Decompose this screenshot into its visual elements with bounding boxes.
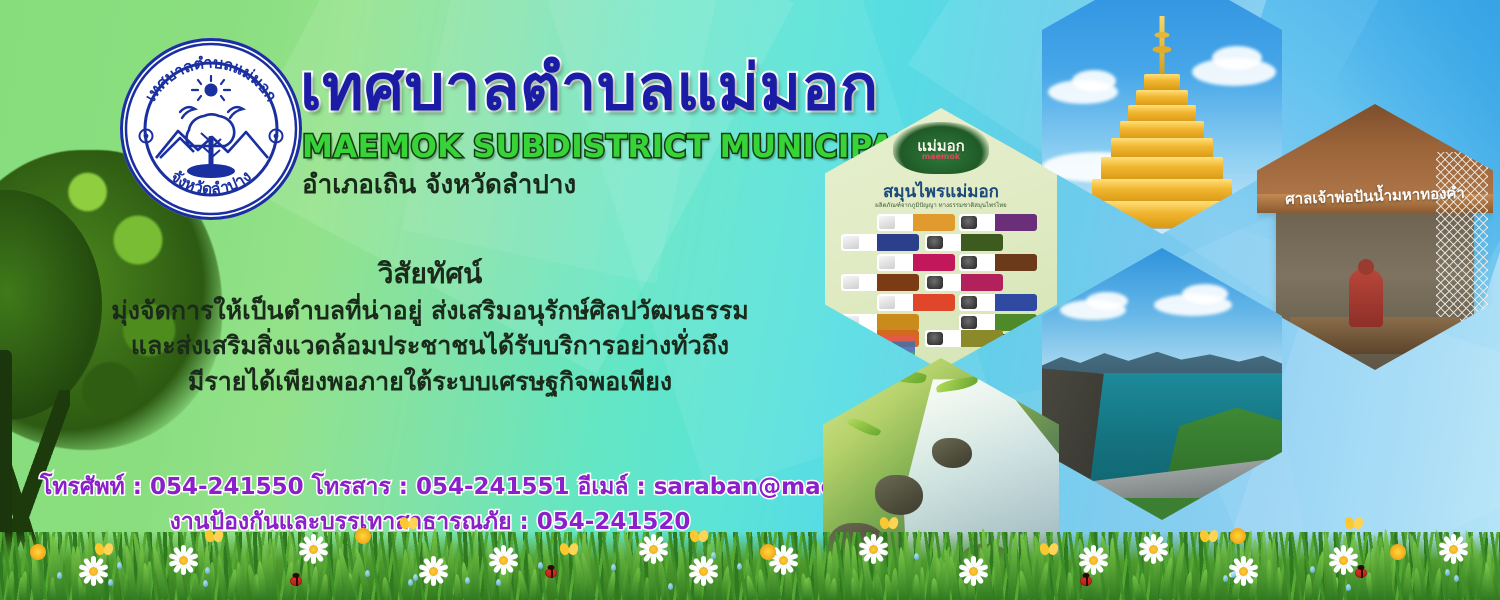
- daisy-center: [649, 545, 658, 554]
- daisy-center: [429, 567, 438, 576]
- page-subtitle-thai: อำเภอเถิน จังหวัดลำปาง: [302, 172, 576, 198]
- shrine-statue: [1349, 269, 1383, 327]
- waterfall-rock: [932, 438, 972, 468]
- butterfly-icon: [400, 517, 418, 530]
- hexagon-shrine[interactable]: ศาลเจ้าพ่อปันน้ำมหาทองคำ: [1257, 104, 1493, 370]
- dew-drop: [1454, 575, 1459, 582]
- pagoda-caption-sub2: อำเภ: [1250, 0, 1274, 7]
- dew-drop: [365, 570, 370, 577]
- daisy-flower-icon: [420, 558, 446, 584]
- ladybug-icon: [290, 576, 302, 586]
- daisy-center: [869, 545, 878, 554]
- waterfall-foliage: [879, 363, 927, 387]
- butterfly-wing: [567, 542, 579, 556]
- waterfall-foliage: [846, 414, 881, 439]
- dew-drop: [914, 553, 919, 560]
- herbal-poster-tagline: ผลิตภัณฑ์จากภูมิปัญญา ทางธรรมชาติสมุนไพร…: [875, 200, 1006, 210]
- butterfly-wing: [1207, 529, 1219, 543]
- butterfly-icon: [1040, 543, 1058, 556]
- daisy-center: [179, 556, 188, 565]
- daisy-center: [779, 556, 788, 565]
- dew-drop: [711, 552, 716, 559]
- waterfall-foliage: [836, 378, 876, 403]
- daisy-flower-icon: [960, 558, 986, 584]
- dam-photo: [1042, 248, 1282, 520]
- butterfly-icon: [1200, 530, 1218, 543]
- hexagon-golden-pagoda[interactable]: วัดพ บ้านกุ่ อำเภ: [1042, 0, 1282, 234]
- grass-blade: [335, 559, 342, 600]
- dew-drop: [1310, 566, 1315, 573]
- daisy-flower-icon: [80, 558, 106, 584]
- daisy-flower-icon: [1080, 547, 1106, 573]
- dew-drop: [496, 579, 501, 586]
- butterfly-wing: [407, 516, 419, 530]
- yellow-flower-icon: [760, 544, 776, 560]
- daisy-center: [699, 567, 708, 576]
- yellow-flower-icon: [1390, 544, 1406, 560]
- daisy-flower-icon: [490, 547, 516, 573]
- pagoda-structure: [1087, 13, 1237, 228]
- daisy-center: [499, 556, 508, 565]
- qr-code-icon: [1003, 334, 1031, 362]
- vision-line-3: มีรายได้เพียงพอภายใต้ระบบเศรษฐกิจพอเพียง: [60, 364, 800, 400]
- daisy-center: [1239, 567, 1248, 576]
- daisy-center: [89, 567, 98, 576]
- butterfly-wing: [212, 529, 224, 543]
- cloud-shape: [1086, 292, 1128, 310]
- daisy-flower-icon: [170, 547, 196, 573]
- daisy-flower-icon: [860, 536, 886, 562]
- daisy-flower-icon: [640, 536, 666, 562]
- butterfly-icon: [1345, 517, 1363, 530]
- hexagon-dam-reservoir[interactable]: [1042, 248, 1282, 520]
- daisy-center: [1449, 545, 1458, 554]
- daisy-flower-icon: [1330, 547, 1356, 573]
- contact-line-primary[interactable]: โทรศัพท์ : 054-241550 โทรสาร : 054-24155…: [40, 470, 820, 505]
- vision-line-1: มุ่งจัดการให้เป็นตำบลที่น่าอยู่ ส่งเสริม…: [60, 293, 800, 329]
- pagoda-spire: [1160, 16, 1165, 78]
- hexagon-herbal-products-poster[interactable]: แม่มอก maemok สมุนไพรแม่มอก ผลิตภัณฑ์จาก…: [825, 108, 1057, 370]
- dew-drop: [1231, 571, 1236, 578]
- municipality-emblem[interactable]: เทศบาลตำบลแม่มอก จังหวัดลำปาง: [120, 38, 302, 220]
- vision-title: วิสัยทัศน์: [60, 255, 800, 293]
- daisy-center: [1149, 545, 1158, 554]
- cloud-shape: [1182, 284, 1228, 304]
- ladybug-icon: [1355, 568, 1367, 578]
- dew-drop: [203, 580, 208, 587]
- daisy-flower-icon: [300, 536, 326, 562]
- page-title-thai: เทศบาลตำบลแม่มอก: [300, 56, 879, 119]
- yellow-flower-icon: [30, 544, 46, 560]
- butterfly-icon: [880, 517, 898, 530]
- yellow-flower-icon: [1230, 528, 1246, 544]
- daisy-center: [969, 567, 978, 576]
- butterfly-icon: [560, 543, 578, 556]
- butterfly-wing: [1047, 542, 1059, 556]
- herbal-product-grid: [841, 214, 1041, 334]
- shrine-fence: [1436, 152, 1488, 338]
- daisy-center: [1339, 556, 1348, 565]
- pagoda-caption: วัดพ บ้านกุ่ อำเภ: [1250, 0, 1274, 7]
- municipality-banner: เทศบาลตำบลแม่มอก จังหวัดลำปาง เทศบาลตำบล…: [0, 0, 1500, 600]
- daisy-center: [1089, 556, 1098, 565]
- ladybug-icon: [545, 568, 557, 578]
- butterfly-wing: [697, 529, 709, 543]
- herbal-poster-social-icons: [845, 336, 915, 358]
- herbal-poster-logo: แม่มอก maemok: [893, 122, 989, 174]
- yellow-flower-icon: [355, 528, 371, 544]
- ladybug-icon: [1080, 576, 1092, 586]
- vision-block: วิสัยทัศน์ มุ่งจัดการให้เป็นตำบลที่น่าอย…: [60, 255, 800, 399]
- grass-flower-strip: [0, 508, 1500, 600]
- shrine-photo: ศาลเจ้าพ่อปันน้ำมหาทองคำ: [1257, 104, 1493, 370]
- hexagon-gallery: แม่มอก maemok สมุนไพรแม่มอก ผลิตภัณฑ์จาก…: [795, 0, 1500, 560]
- daisy-flower-icon: [690, 558, 716, 584]
- butterfly-icon: [95, 543, 113, 556]
- daisy-flower-icon: [1440, 536, 1466, 562]
- dew-drop: [205, 567, 210, 574]
- grass-blade: [912, 574, 919, 600]
- dew-drop: [465, 577, 470, 584]
- daisy-center: [309, 545, 318, 554]
- daisy-flower-icon: [1140, 536, 1166, 562]
- butterfly-wing: [887, 516, 899, 530]
- herbal-poster-image: แม่มอก maemok สมุนไพรแม่มอก ผลิตภัณฑ์จาก…: [825, 108, 1057, 370]
- butterfly-icon: [690, 530, 708, 543]
- dew-drop: [408, 579, 413, 586]
- butterfly-icon: [205, 530, 223, 543]
- butterfly-wing: [1352, 516, 1364, 530]
- butterfly-wing: [102, 542, 114, 556]
- herbal-poster-logo-subtext: maemok: [893, 152, 989, 161]
- vision-line-2: และส่งเสริมสิ่งแวดล้อมประชาชนได้รับบริกา…: [60, 328, 800, 364]
- pagoda-photo: วัดพ บ้านกุ่ อำเภ: [1042, 0, 1282, 234]
